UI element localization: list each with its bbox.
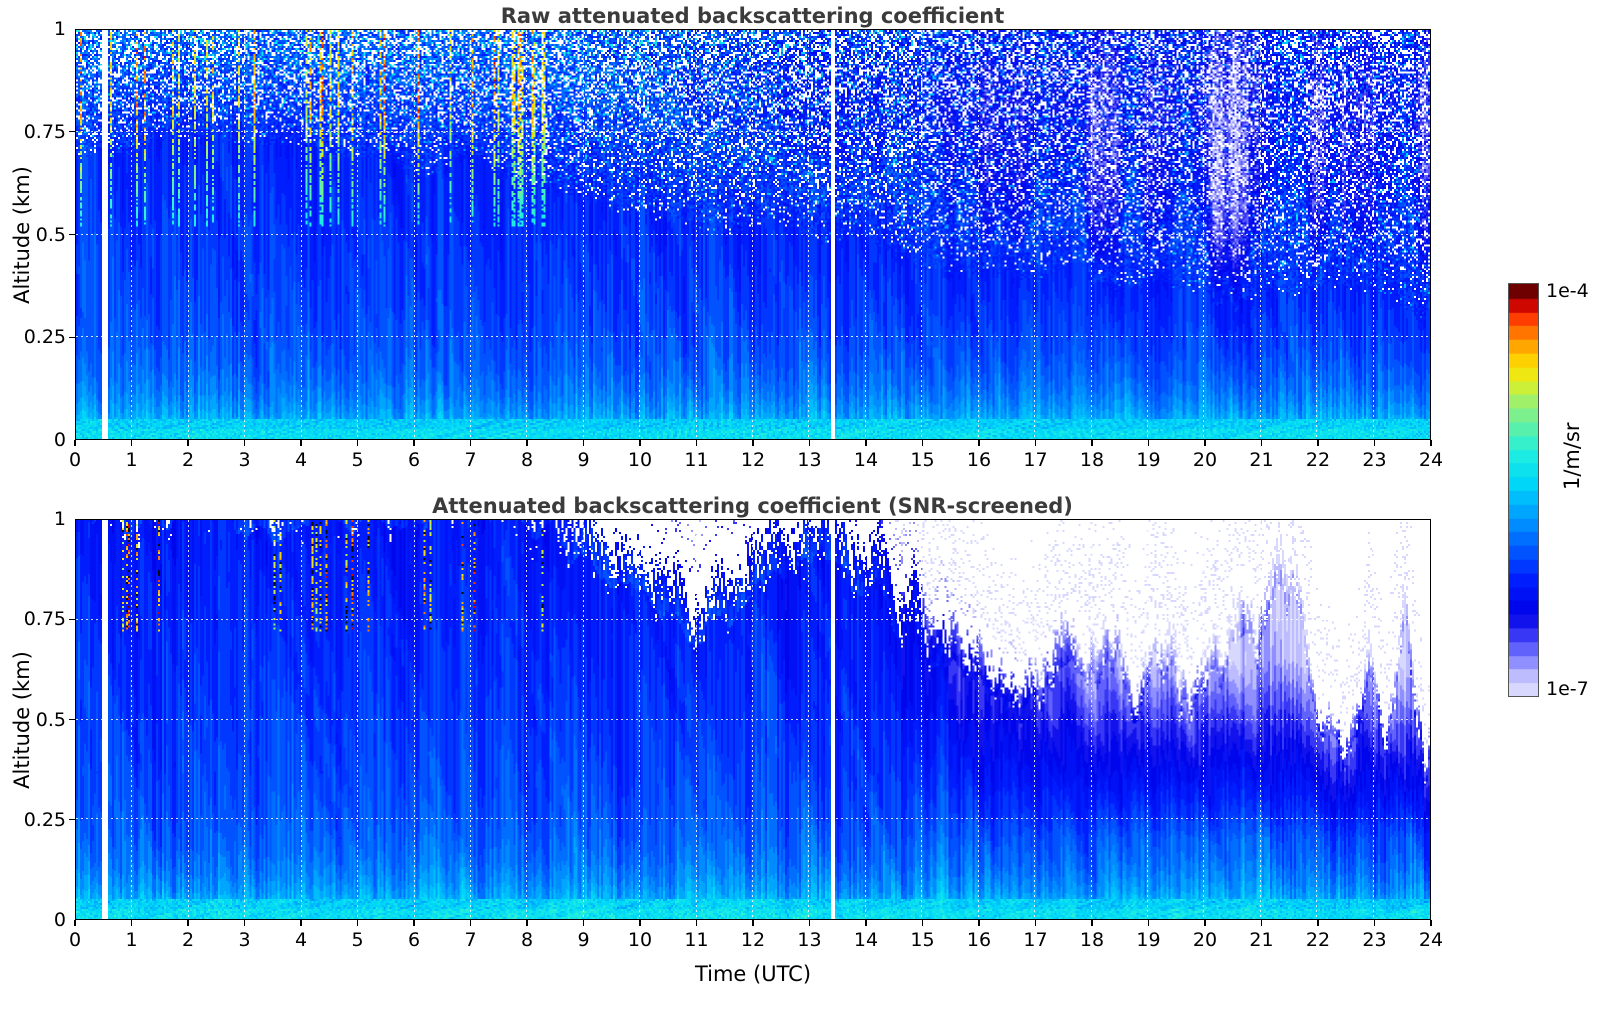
colorbar-tick-min: 1e-7	[1546, 678, 1589, 700]
xtick-label: 13	[797, 929, 821, 951]
gridline-vertical	[414, 520, 415, 919]
gridline-horizontal	[76, 818, 1430, 819]
xtick-mark	[244, 440, 245, 446]
gridline-vertical	[1373, 30, 1374, 439]
xtick-label: 21	[1249, 929, 1273, 951]
gridline-vertical	[1034, 30, 1035, 439]
xtick-label: 19	[1136, 929, 1160, 951]
xtick-mark	[978, 920, 979, 926]
xtick-mark	[1148, 440, 1149, 446]
xtick-mark	[526, 920, 527, 926]
xtick-mark	[470, 920, 471, 926]
gridline-vertical	[1316, 520, 1317, 919]
xtick-mark	[131, 920, 132, 926]
xtick-mark	[131, 440, 132, 446]
xtick-label: 22	[1306, 449, 1330, 471]
xtick-mark	[187, 440, 188, 446]
gridline-horizontal	[76, 719, 1430, 720]
gridline-vertical	[865, 520, 866, 919]
ytick-mark	[69, 234, 75, 235]
xtick-label: 11	[684, 449, 708, 471]
xtick-mark	[1035, 920, 1036, 926]
xtick-label: 15	[910, 449, 934, 471]
ytick-label: 0.5	[36, 709, 66, 731]
xtick-mark	[1091, 440, 1092, 446]
xtick-label: 9	[577, 929, 589, 951]
xtick-label: 24	[1419, 929, 1443, 951]
xtick-label: 23	[1362, 929, 1386, 951]
ytick-label: 0.25	[24, 809, 66, 831]
xtick-label: 16	[967, 929, 991, 951]
gridline-vertical	[470, 30, 471, 439]
panel-title-raw: Raw attenuated backscattering coefficien…	[75, 4, 1430, 28]
xtick-label: 5	[351, 449, 363, 471]
figure-canvas: Raw attenuated backscattering coefficien…	[0, 0, 1621, 1020]
xtick-mark	[413, 920, 414, 926]
colorbar[interactable]	[1508, 283, 1539, 697]
xtick-label: 3	[238, 929, 250, 951]
xtick-mark	[978, 440, 979, 446]
xtick-mark	[1035, 440, 1036, 446]
xtick-label: 5	[351, 929, 363, 951]
gridline-vertical	[526, 520, 527, 919]
xtick-label: 9	[577, 449, 589, 471]
gridline-vertical	[1260, 30, 1261, 439]
ytick-mark	[69, 131, 75, 132]
xtick-label: 1	[125, 929, 137, 951]
xtick-mark	[413, 440, 414, 446]
xtick-label: 17	[1023, 449, 1047, 471]
gridline-vertical	[1316, 30, 1317, 439]
panel-title-screened: Attenuated backscattering coefficient (S…	[75, 494, 1430, 518]
gridline-vertical	[808, 30, 809, 439]
gridline-vertical	[1091, 30, 1092, 439]
ytick-mark	[69, 719, 75, 720]
gridline-vertical	[301, 30, 302, 439]
xtick-mark	[1430, 920, 1431, 926]
xtick-mark	[300, 440, 301, 446]
xtick-mark	[752, 920, 753, 926]
y-axis-label: Altitude (km)	[10, 166, 34, 304]
gridline-vertical	[357, 30, 358, 439]
xtick-mark	[526, 440, 527, 446]
xtick-mark	[809, 440, 810, 446]
gridline-vertical	[188, 520, 189, 919]
xtick-label: 2	[182, 929, 194, 951]
gridline-vertical	[1034, 520, 1035, 919]
gridline-horizontal	[76, 234, 1430, 235]
xtick-mark	[1261, 920, 1262, 926]
ytick-label: 1	[54, 18, 66, 40]
gridline-vertical	[696, 30, 697, 439]
xtick-mark	[1430, 440, 1431, 446]
gridline-vertical	[752, 30, 753, 439]
gridline-vertical	[131, 520, 132, 919]
xtick-label: 6	[408, 449, 420, 471]
xtick-mark	[357, 440, 358, 446]
gridline-vertical	[301, 520, 302, 919]
xtick-mark	[922, 920, 923, 926]
gridline-vertical	[978, 520, 979, 919]
xtick-label: 21	[1249, 449, 1273, 471]
xtick-label: 14	[854, 929, 878, 951]
xtick-label: 8	[521, 929, 533, 951]
xtick-mark	[865, 920, 866, 926]
ytick-label: 0.25	[24, 326, 66, 348]
ytick-label: 1	[54, 508, 66, 530]
xtick-mark	[1261, 440, 1262, 446]
xtick-label: 11	[684, 929, 708, 951]
heatmap-image-raw	[76, 30, 1430, 439]
gridline-vertical	[244, 520, 245, 919]
xtick-mark	[1204, 920, 1205, 926]
ytick-label: 0.75	[24, 121, 66, 143]
gridline-vertical	[131, 30, 132, 439]
xtick-mark	[1317, 440, 1318, 446]
xtick-mark	[1204, 440, 1205, 446]
gridline-vertical	[1091, 520, 1092, 919]
gridline-vertical	[583, 30, 584, 439]
xtick-mark	[809, 920, 810, 926]
gridline-vertical	[470, 520, 471, 919]
heatmap-image-screened	[76, 520, 1430, 919]
xtick-label: 7	[464, 449, 476, 471]
xtick-mark	[583, 920, 584, 926]
colorbar-axis-label: 1/m/sr	[1560, 422, 1584, 490]
xtick-mark	[244, 920, 245, 926]
xtick-label: 7	[464, 929, 476, 951]
ytick-label: 0	[54, 909, 66, 931]
gridline-vertical	[1203, 520, 1204, 919]
xtick-label: 19	[1136, 449, 1160, 471]
xtick-label: 10	[628, 929, 652, 951]
gridline-vertical	[639, 30, 640, 439]
xtick-label: 22	[1306, 929, 1330, 951]
xtick-label: 1	[125, 449, 137, 471]
heatmap-panel-raw[interactable]	[75, 29, 1431, 440]
xtick-mark	[639, 440, 640, 446]
xtick-mark	[639, 920, 640, 926]
xtick-label: 10	[628, 449, 652, 471]
gridline-vertical	[639, 520, 640, 919]
gridline-vertical	[188, 30, 189, 439]
xtick-mark	[922, 440, 923, 446]
gridline-vertical	[752, 520, 753, 919]
x-axis-label: Time (UTC)	[75, 962, 1431, 986]
xtick-mark	[696, 920, 697, 926]
xtick-label: 12	[741, 449, 765, 471]
ytick-mark	[69, 337, 75, 338]
colorbar-gradient	[1509, 284, 1538, 696]
gridline-vertical	[526, 30, 527, 439]
xtick-mark	[300, 920, 301, 926]
xtick-label: 0	[69, 929, 81, 951]
gridline-vertical	[357, 520, 358, 919]
gridline-vertical	[414, 30, 415, 439]
xtick-label: 3	[238, 449, 250, 471]
xtick-label: 23	[1362, 449, 1386, 471]
gridline-vertical	[1260, 520, 1261, 919]
ytick-label: 0.5	[36, 224, 66, 246]
gridline-horizontal	[76, 131, 1430, 132]
xtick-mark	[74, 920, 75, 926]
xtick-mark	[1317, 920, 1318, 926]
xtick-label: 6	[408, 929, 420, 951]
xtick-mark	[1091, 920, 1092, 926]
xtick-label: 13	[797, 449, 821, 471]
xtick-label: 18	[1080, 929, 1104, 951]
ytick-mark	[69, 619, 75, 620]
gridline-horizontal	[76, 336, 1430, 337]
xtick-label: 14	[854, 449, 878, 471]
heatmap-panel-screened[interactable]	[75, 519, 1431, 920]
xtick-label: 18	[1080, 449, 1104, 471]
xtick-mark	[583, 440, 584, 446]
xtick-label: 17	[1023, 929, 1047, 951]
gridline-vertical	[583, 520, 584, 919]
gridline-horizontal	[76, 619, 1430, 620]
gridline-vertical	[1147, 520, 1148, 919]
gridline-vertical	[696, 520, 697, 919]
gridline-vertical	[921, 30, 922, 439]
xtick-mark	[357, 920, 358, 926]
xtick-label: 20	[1193, 929, 1217, 951]
xtick-label: 4	[295, 449, 307, 471]
gridline-vertical	[808, 520, 809, 919]
xtick-mark	[865, 440, 866, 446]
xtick-label: 0	[69, 449, 81, 471]
ytick-label: 0.75	[24, 608, 66, 630]
xtick-mark	[1374, 440, 1375, 446]
colorbar-tick-max: 1e-4	[1546, 280, 1589, 302]
xtick-mark	[752, 440, 753, 446]
xtick-mark	[74, 440, 75, 446]
xtick-label: 15	[910, 929, 934, 951]
xtick-label: 2	[182, 449, 194, 471]
xtick-label: 12	[741, 929, 765, 951]
gridline-vertical	[1147, 30, 1148, 439]
gridline-vertical	[1203, 30, 1204, 439]
gridline-vertical	[865, 30, 866, 439]
xtick-label: 8	[521, 449, 533, 471]
ytick-mark	[69, 819, 75, 820]
xtick-label: 16	[967, 449, 991, 471]
xtick-mark	[470, 440, 471, 446]
gridline-vertical	[978, 30, 979, 439]
xtick-mark	[696, 440, 697, 446]
gridline-vertical	[244, 30, 245, 439]
xtick-label: 4	[295, 929, 307, 951]
xtick-mark	[1148, 920, 1149, 926]
xtick-label: 24	[1419, 449, 1443, 471]
xtick-label: 20	[1193, 449, 1217, 471]
y-axis-label: Altitude (km)	[10, 651, 34, 789]
xtick-mark	[1374, 920, 1375, 926]
gridline-vertical	[921, 520, 922, 919]
ytick-label: 0	[54, 429, 66, 451]
xtick-mark	[187, 920, 188, 926]
gridline-vertical	[1373, 520, 1374, 919]
